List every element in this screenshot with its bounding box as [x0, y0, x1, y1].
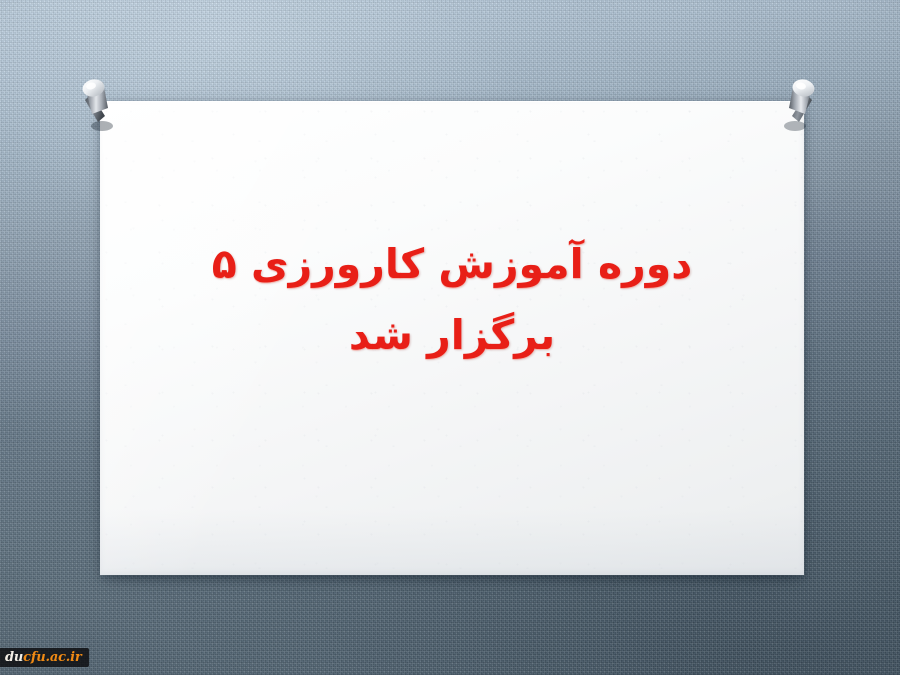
site-watermark: du cfu.ac.ir: [0, 648, 89, 667]
poster-headline-line-2: برگزار شد: [134, 300, 770, 371]
push-pin-right-icon: [779, 78, 819, 134]
poster-headline-block: دوره آموزش کارورزی ۵ برگزار شد: [100, 229, 804, 370]
poster-headline-line-1: دوره آموزش کارورزی ۵: [134, 229, 770, 300]
watermark-domain: cfu.ac.ir: [23, 651, 81, 664]
poster-stage: دوره آموزش کارورزی ۵ برگزار شد: [0, 0, 900, 675]
poster-sheet-wrapper: دوره آموزش کارورزی ۵ برگزار شد: [100, 101, 804, 575]
poster-sheet: دوره آموزش کارورزی ۵ برگزار شد: [100, 101, 804, 575]
watermark-prefix: du: [5, 651, 23, 664]
push-pin-left-icon: [79, 78, 119, 134]
